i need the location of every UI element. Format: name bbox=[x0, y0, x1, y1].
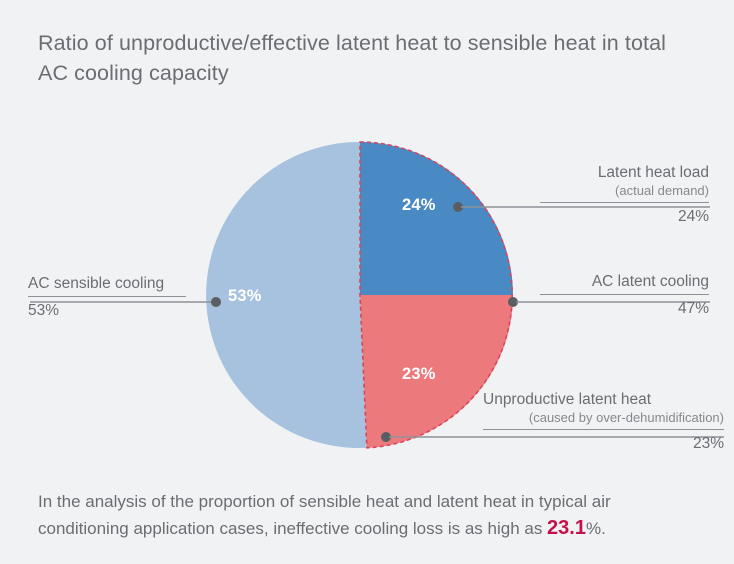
callout-sensible-value: 53% bbox=[28, 297, 186, 322]
callout-sensible-title: AC sensible cooling bbox=[28, 274, 186, 293]
callout-latent-cooling-title: AC latent cooling bbox=[540, 272, 709, 291]
pie-chart: 53% 24% 23% AC sensible cooling 53% Late… bbox=[0, 0, 734, 564]
callout-latent-load-subtitle: (actual demand) bbox=[540, 182, 709, 199]
callout-unproductive-value: 23% bbox=[483, 430, 724, 455]
slice-value-sensible: 53% bbox=[228, 287, 262, 306]
footer-highlight-value: 23.1 bbox=[547, 517, 586, 539]
slice-value-latent-load: 24% bbox=[402, 196, 436, 215]
callout-latent-cooling-value: 47% bbox=[540, 295, 709, 320]
leader-dot-sensible bbox=[211, 297, 221, 307]
footer-text-before: In the analysis of the proportion of sen… bbox=[38, 492, 611, 538]
callout-latent-load-value: 24% bbox=[540, 203, 709, 228]
callout-latent-heat-load: Latent heat load (actual demand) 24% bbox=[540, 163, 709, 228]
callout-ac-latent-cooling: AC latent cooling 47% bbox=[540, 272, 709, 320]
callout-unproductive-subtitle: (caused by over-dehumidification) bbox=[483, 409, 724, 426]
footer-note: In the analysis of the proportion of sen… bbox=[38, 489, 706, 542]
callout-unproductive-title: Unproductive latent heat bbox=[483, 390, 724, 409]
footer-text-after: %. bbox=[586, 519, 606, 538]
pie-slice-latent-load bbox=[360, 142, 513, 295]
callout-unproductive-latent-heat: Unproductive latent heat (caused by over… bbox=[483, 390, 724, 455]
callout-ac-sensible-cooling: AC sensible cooling 53% bbox=[28, 274, 186, 322]
callout-latent-load-title: Latent heat load bbox=[540, 163, 709, 182]
slice-value-unproductive: 23% bbox=[402, 365, 436, 384]
